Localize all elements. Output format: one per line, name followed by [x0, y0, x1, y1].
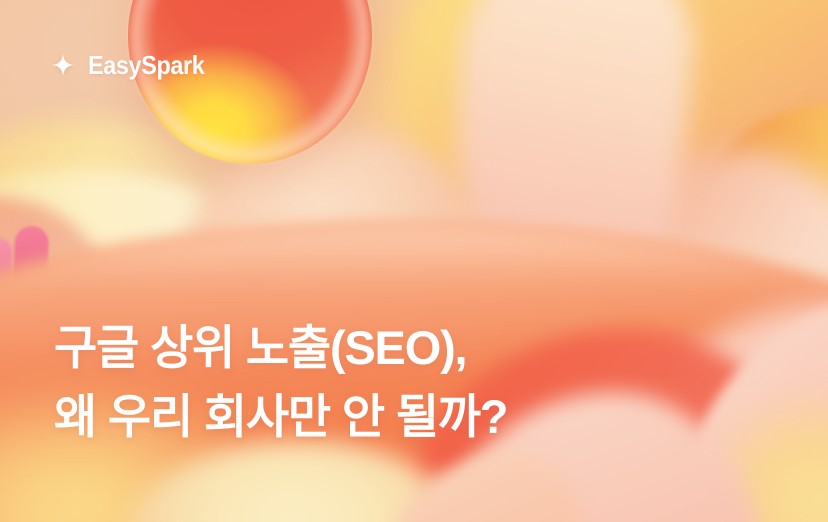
promotional-banner: EasySpark 구글 상위 노출(SEO), 왜 우리 회사만 안 될까? — [0, 0, 828, 522]
brand-name: EasySpark — [88, 52, 204, 78]
headline-line-1: 구글 상위 노출(SEO), — [54, 314, 507, 383]
headline-line-2: 왜 우리 회사만 안 될까? — [54, 383, 507, 452]
sparkle-icon — [52, 54, 74, 76]
banner-content: EasySpark 구글 상위 노출(SEO), 왜 우리 회사만 안 될까? — [0, 0, 828, 522]
brand-logo[interactable]: EasySpark — [52, 52, 217, 78]
headline: 구글 상위 노출(SEO), 왜 우리 회사만 안 될까? — [54, 314, 507, 451]
